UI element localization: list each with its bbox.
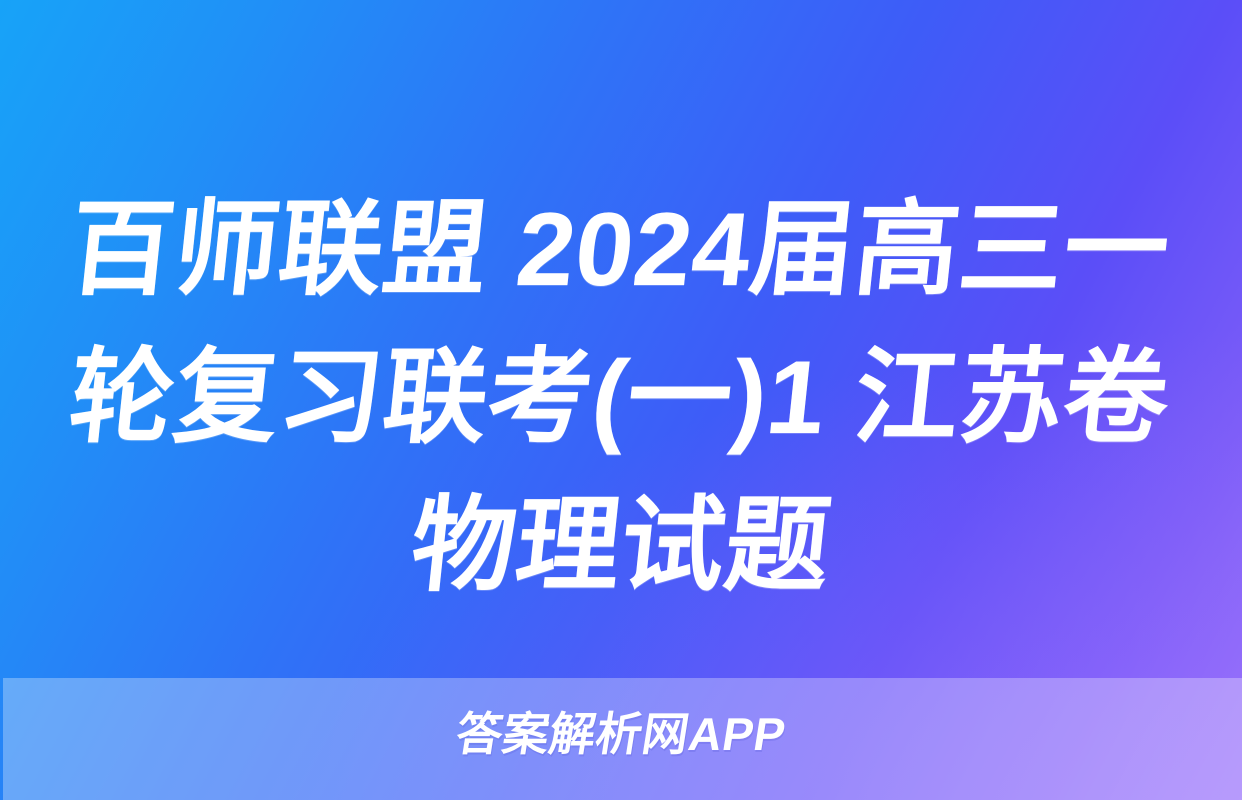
poster-title-line-1: 百师联盟 2024届高三一 [48, 176, 1194, 324]
poster-title: 百师联盟 2024届高三一 轮复习联考(一)1 江苏卷 物理试题 [0, 176, 1242, 620]
poster-title-line-3: 物理试题 [48, 472, 1194, 620]
poster-title-line-2: 轮复习联考(一)1 江苏卷 [48, 324, 1194, 472]
app-watermark: 答案解析网APP [0, 708, 1242, 760]
exam-title-poster: 百师联盟 2024届高三一 轮复习联考(一)1 江苏卷 物理试题 答案解析网AP… [0, 0, 1242, 800]
